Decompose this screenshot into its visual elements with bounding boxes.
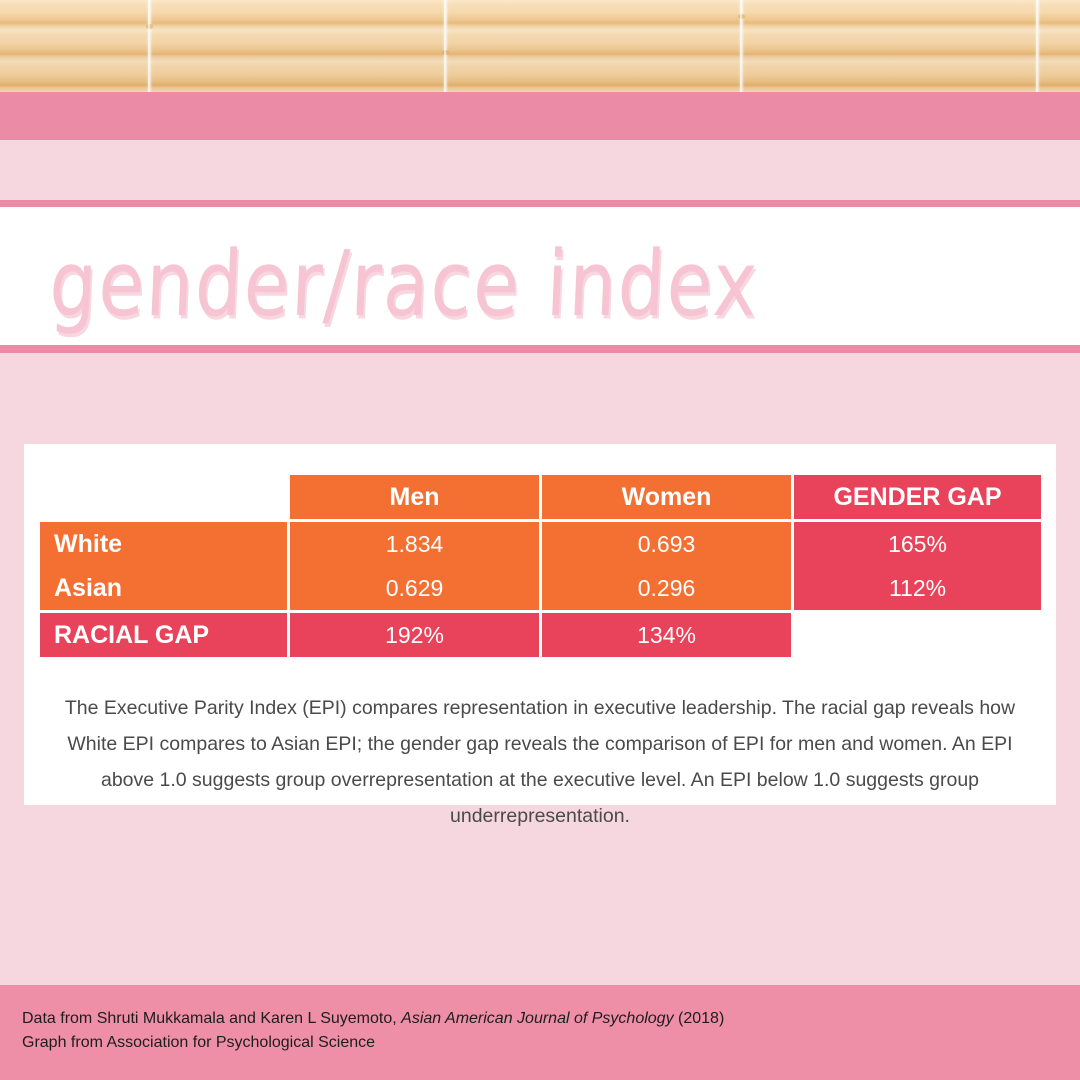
header-men: Men — [290, 475, 539, 519]
epi-table: Men Women GENDER GAP White 1.834 0.693 1… — [40, 475, 1048, 657]
table-header-row: Men Women GENDER GAP — [40, 475, 1048, 519]
poster-canvas: gender/race index Men Women GENDER GAP W… — [0, 0, 1080, 1080]
row-label-racial-gap: RACIAL GAP — [40, 613, 287, 657]
cell-asian-women: 0.296 — [542, 566, 791, 610]
cell-racial-gap-empty — [794, 613, 1041, 657]
footer-line-2: Graph from Association for Psychological… — [22, 1031, 1080, 1055]
description-paragraph: The Executive Parity Index (EPI) compare… — [58, 690, 1022, 834]
pink-band-dark — [0, 92, 1080, 140]
table-row: White 1.834 0.693 165% — [40, 522, 1048, 566]
cell-white-gender-gap: 165% — [794, 522, 1041, 566]
cell-racial-gap-women: 134% — [542, 613, 791, 657]
content-card: Men Women GENDER GAP White 1.834 0.693 1… — [24, 444, 1056, 805]
footer-attribution: Data from Shruti Mukkamala and Karen L S… — [0, 985, 1080, 1080]
table-corner-cell — [40, 475, 287, 519]
footer-source-year: (2018) — [674, 1010, 725, 1027]
cell-white-women: 0.693 — [542, 522, 791, 566]
pink-rule-top — [0, 200, 1080, 207]
table-row: Asian 0.629 0.296 112% — [40, 566, 1048, 610]
cell-asian-men: 0.629 — [290, 566, 539, 610]
footer-source-prefix: Data from Shruti Mukkamala and Karen L S… — [22, 1010, 401, 1027]
cell-asian-gender-gap: 112% — [794, 566, 1041, 610]
cell-racial-gap-men: 192% — [290, 613, 539, 657]
footer-journal-name: Asian American Journal of Psychology — [401, 1010, 673, 1027]
pink-rule-bottom — [0, 345, 1080, 353]
row-label-white: White — [40, 522, 287, 566]
pink-band-light — [0, 140, 1080, 200]
cell-white-men: 1.834 — [290, 522, 539, 566]
table-row: RACIAL GAP 192% 134% — [40, 613, 1048, 657]
page-title: gender/race index — [47, 232, 761, 337]
header-gender-gap: GENDER GAP — [794, 475, 1041, 519]
row-label-asian: Asian — [40, 566, 287, 610]
footer-line-1: Data from Shruti Mukkamala and Karen L S… — [22, 1007, 1080, 1031]
header-women: Women — [542, 475, 791, 519]
bamboo-blind-image — [0, 0, 1080, 92]
